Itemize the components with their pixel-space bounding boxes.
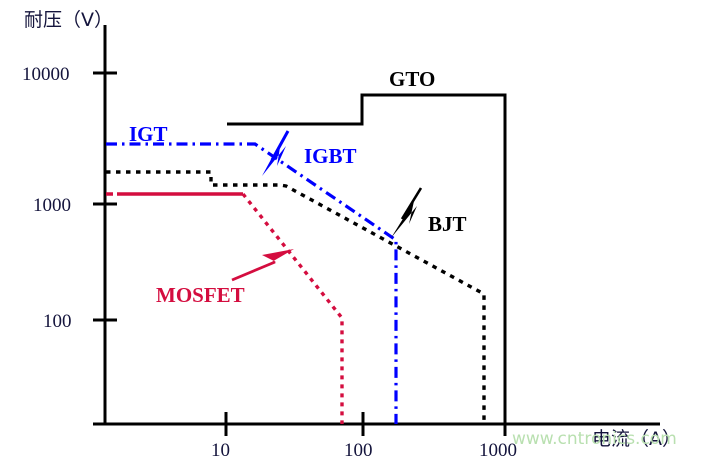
device-operating-area-chart: 10000 1000 100 10 100 1000 耐压（V） 电流（A） w…	[0, 0, 701, 457]
igbt-boundary-line	[106, 144, 396, 424]
series-label-gto: GTO	[389, 67, 435, 91]
bjt-arrow-icon	[391, 188, 421, 238]
gto-boundary-line	[227, 95, 505, 424]
y-tick-label-10000: 10000	[22, 64, 70, 85]
igbt-arrow-head	[262, 141, 286, 176]
y-axis-title: 耐压（V）	[24, 9, 113, 31]
mosfet-rolloff-line	[243, 194, 342, 424]
igbt-arrow-icon	[262, 131, 288, 176]
y-tick-label-1000: 1000	[33, 195, 71, 216]
x-tick-label-10: 10	[211, 440, 230, 457]
series-gto	[227, 95, 505, 424]
mosfet-arrow-icon	[232, 249, 294, 280]
series-label-bjt: BJT	[428, 212, 467, 236]
series-label-mosfet: MOSFET	[156, 283, 245, 307]
series-label-igbt: IGBT	[304, 144, 357, 168]
watermark-text: www.cntronics.com	[512, 429, 677, 449]
bjt-arrow-head	[391, 201, 417, 238]
series-igbt	[106, 144, 396, 424]
mosfet-arrow-head	[258, 249, 294, 270]
x-tick-label-100: 100	[344, 440, 373, 457]
chart-svg: 10000 1000 100 10 100 1000 耐压（V） 电流（A） w…	[0, 0, 701, 457]
axis-group	[93, 25, 660, 436]
series-label-igt: IGT	[129, 122, 168, 146]
y-tick-label-100: 100	[43, 311, 72, 332]
series-mosfet	[106, 194, 342, 424]
